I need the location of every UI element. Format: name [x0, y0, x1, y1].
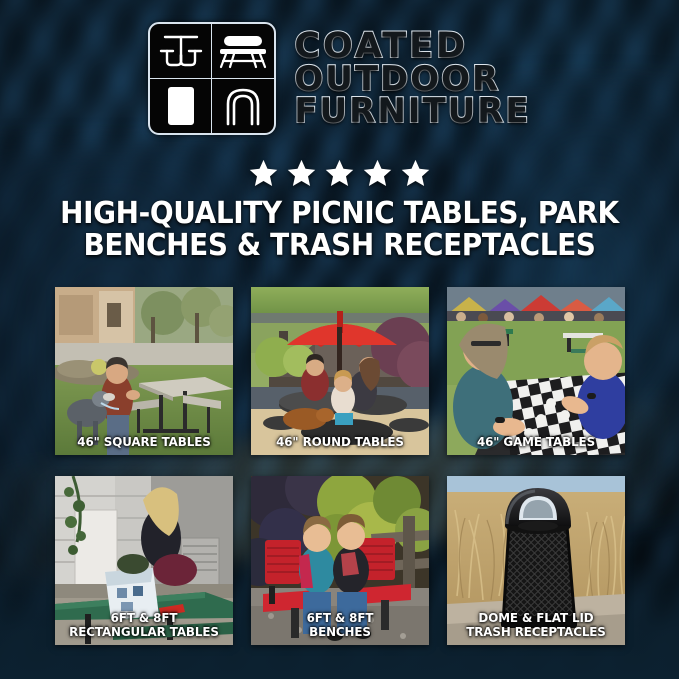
logo-wordmark: COATED OUTDOOR FURNITURE: [294, 30, 530, 128]
product-photo-square-tables: [55, 287, 233, 455]
bike-rack-arch-icon: [212, 79, 274, 134]
product-caption: 46" ROUND TABLES: [255, 435, 424, 449]
brand-logo: COATED OUTDOOR FURNITURE: [0, 22, 679, 135]
logo-icon-grid: [148, 22, 276, 135]
trash-receptacle-icon: [150, 79, 212, 134]
headline-line-2: BENCHES & TRASH RECEPTACLES: [24, 230, 655, 262]
product-caption: 46" GAME TABLES: [451, 435, 620, 449]
product-tile-game-tables[interactable]: 46" GAME TABLES: [447, 287, 625, 455]
product-tile-benches[interactable]: 6FT & 8FT BENCHES: [251, 476, 429, 645]
product-tile-rectangular-tables[interactable]: 6FT & 8FT RECTANGULAR TABLES: [55, 476, 233, 645]
product-tile-square-tables[interactable]: 46" SQUARE TABLES: [55, 287, 233, 455]
product-photo-game-tables: [447, 287, 625, 455]
star-rating: [0, 158, 679, 188]
product-tile-trash-receptacles[interactable]: DOME & FLAT LID TRASH RECEPTACLES: [447, 476, 625, 645]
headline-line-1: HIGH-QUALITY PICNIC TABLES, PARK: [60, 196, 619, 231]
product-photo-round-tables: [251, 287, 429, 455]
headline: HIGH-QUALITY PICNIC TABLES, PARK BENCHES…: [24, 198, 655, 263]
park-bench-icon: [212, 24, 274, 79]
star-icon: [324, 158, 355, 188]
picnic-table-icon: [150, 24, 212, 79]
product-tile-round-tables[interactable]: 46" ROUND TABLES: [251, 287, 429, 455]
star-icon: [362, 158, 393, 188]
logo-word-furniture: FURNITURE: [294, 95, 530, 127]
star-icon: [400, 158, 431, 188]
product-caption: DOME & FLAT LID TRASH RECEPTACLES: [451, 611, 620, 639]
product-caption: 6FT & 8FT BENCHES: [255, 611, 424, 639]
product-caption: 46" SQUARE TABLES: [59, 435, 228, 449]
product-grid: 46" SQUARE TABLES: [55, 287, 625, 645]
product-caption: 6FT & 8FT RECTANGULAR TABLES: [59, 611, 228, 639]
logo-word-coated: COATED: [294, 30, 468, 63]
promo-banner: COATED OUTDOOR FURNITURE HIGH-QUALITY PI…: [0, 0, 679, 679]
star-icon: [248, 158, 279, 188]
star-icon: [286, 158, 317, 188]
